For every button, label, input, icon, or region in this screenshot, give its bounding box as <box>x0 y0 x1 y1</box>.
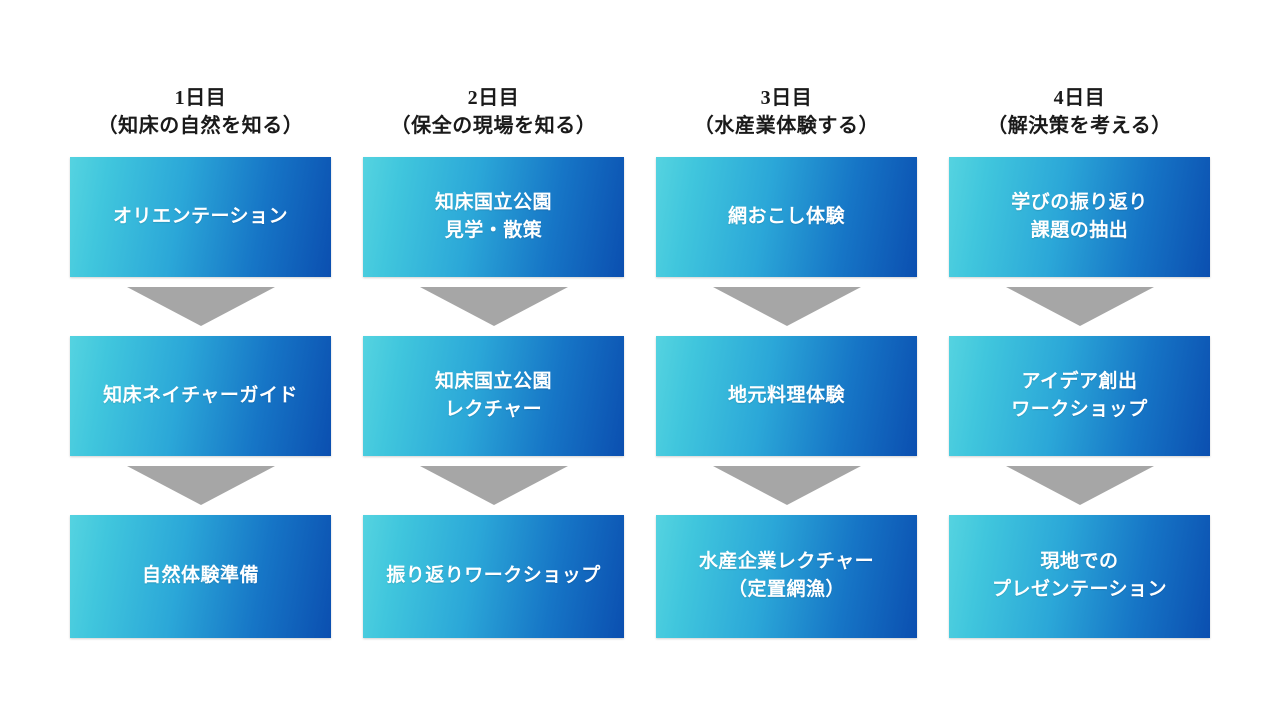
arrow-container-1-2 <box>70 456 331 515</box>
step-label-1-2: 知床ネイチャーガイド <box>95 382 306 410</box>
step-box-1-3[interactable]: 自然体験準備 <box>70 515 331 638</box>
step-box-2-3[interactable]: 振り返りワークショップ <box>363 515 624 638</box>
arrow-container-2-1 <box>363 277 624 336</box>
column-header-3: 3日目 （水産業体験する） <box>656 84 917 141</box>
arrow-container-4-2 <box>949 456 1210 515</box>
step-label-2-1: 知床国立公園 見学・散策 <box>427 189 560 245</box>
step-label-2-3: 振り返りワークショップ <box>378 562 609 590</box>
step-label-2-2: 知床国立公園 レクチャー <box>427 368 560 424</box>
step-box-3-3[interactable]: 水産企業レクチャー （定置網漁） <box>656 515 917 638</box>
column-theme-label-1: （知床の自然を知る） <box>70 112 331 140</box>
down-triangle-arrow-icon <box>420 466 568 505</box>
column-day-label-4: 4日目 <box>949 84 1210 112</box>
down-triangle-arrow-icon <box>713 466 861 505</box>
day-column-2: 2日目 （保全の現場を知る） 知床国立公園 見学・散策 知床国立公園 レクチャー… <box>363 84 624 638</box>
arrow-container-2-2 <box>363 456 624 515</box>
column-header-1: 1日目 （知床の自然を知る） <box>70 84 331 141</box>
day-column-3: 3日目 （水産業体験する） 網おこし体験 地元料理体験 水産企業レクチャー （定… <box>656 84 917 638</box>
step-box-2-2[interactable]: 知床国立公園 レクチャー <box>363 336 624 456</box>
down-triangle-arrow-icon <box>1006 466 1154 505</box>
step-box-1-1[interactable]: オリエンテーション <box>70 157 331 277</box>
arrow-container-3-2 <box>656 456 917 515</box>
day-column-4: 4日目 （解決策を考える） 学びの振り返り 課題の抽出 アイデア創出 ワークショ… <box>949 84 1210 638</box>
column-day-label-3: 3日目 <box>656 84 917 112</box>
column-header-2: 2日目 （保全の現場を知る） <box>363 84 624 141</box>
step-box-2-1[interactable]: 知床国立公園 見学・散策 <box>363 157 624 277</box>
column-day-label-2: 2日目 <box>363 84 624 112</box>
step-box-3-1[interactable]: 網おこし体験 <box>656 157 917 277</box>
step-label-4-1: 学びの振り返り 課題の抽出 <box>1003 189 1156 245</box>
day-column-1: 1日目 （知床の自然を知る） オリエンテーション 知床ネイチャーガイド 自然体験… <box>70 84 331 638</box>
down-triangle-arrow-icon <box>713 287 861 326</box>
column-day-label-1: 1日目 <box>70 84 331 112</box>
step-box-4-3[interactable]: 現地での プレゼンテーション <box>949 515 1210 638</box>
step-label-3-3: 水産企業レクチャー （定置網漁） <box>691 548 882 604</box>
column-theme-label-2: （保全の現場を知る） <box>363 112 624 140</box>
step-box-1-2[interactable]: 知床ネイチャーガイド <box>70 336 331 456</box>
columns-container: 1日目 （知床の自然を知る） オリエンテーション 知床ネイチャーガイド 自然体験… <box>70 84 1210 638</box>
diagram-canvas: 1日目 （知床の自然を知る） オリエンテーション 知床ネイチャーガイド 自然体験… <box>0 0 1280 720</box>
arrow-container-3-1 <box>656 277 917 336</box>
down-triangle-arrow-icon <box>420 287 568 326</box>
arrow-container-4-1 <box>949 277 1210 336</box>
step-box-3-2[interactable]: 地元料理体験 <box>656 336 917 456</box>
column-theme-label-3: （水産業体験する） <box>656 112 917 140</box>
step-label-3-1: 網おこし体験 <box>720 203 853 231</box>
step-label-4-2: アイデア創出 ワークショップ <box>1003 368 1156 424</box>
arrow-container-1-1 <box>70 277 331 336</box>
down-triangle-arrow-icon <box>1006 287 1154 326</box>
step-label-1-3: 自然体験準備 <box>134 562 267 590</box>
step-box-4-2[interactable]: アイデア創出 ワークショップ <box>949 336 1210 456</box>
down-triangle-arrow-icon <box>127 287 275 326</box>
down-triangle-arrow-icon <box>127 466 275 505</box>
step-label-3-2: 地元料理体験 <box>720 382 853 410</box>
step-label-4-3: 現地での プレゼンテーション <box>984 548 1175 604</box>
column-theme-label-4: （解決策を考える） <box>949 112 1210 140</box>
step-box-4-1[interactable]: 学びの振り返り 課題の抽出 <box>949 157 1210 277</box>
step-label-1-1: オリエンテーション <box>105 203 296 231</box>
column-header-4: 4日目 （解決策を考える） <box>949 84 1210 141</box>
